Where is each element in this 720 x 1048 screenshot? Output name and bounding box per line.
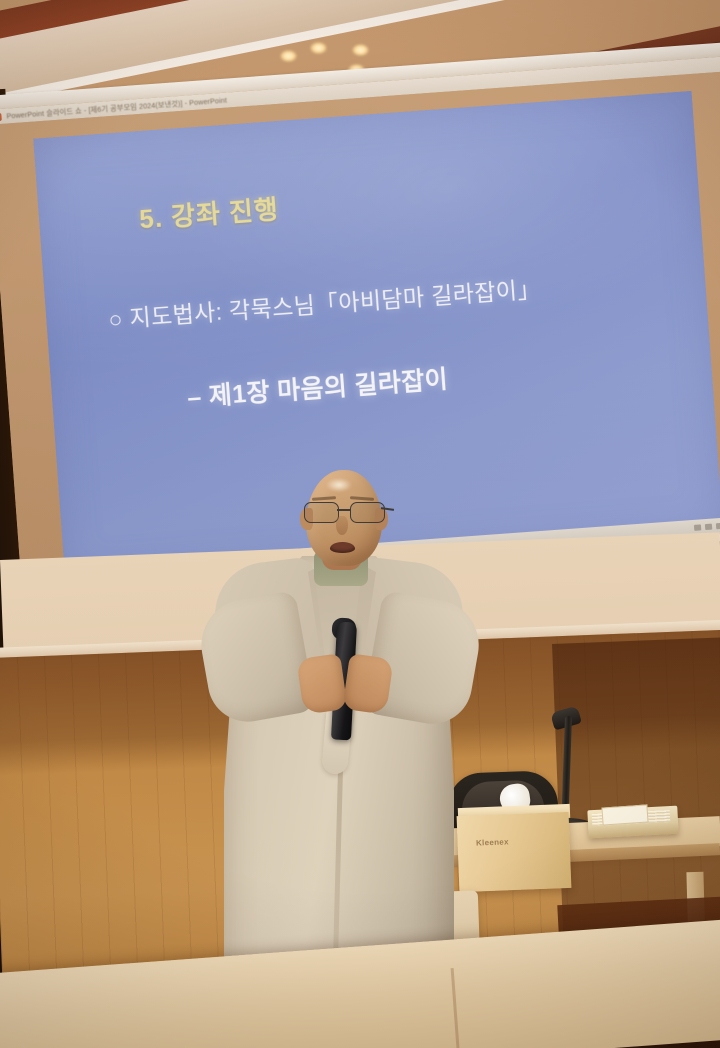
view-controls	[694, 519, 720, 531]
powerpoint-logo-icon	[0, 112, 2, 121]
slide-bullet-2: – 제1장 마음의 길라잡이	[186, 359, 449, 414]
slide-bullet-1: ○ 지도법사: 각묵스님「아비담마 길라잡이」	[107, 269, 542, 334]
eyeglass-lens-right	[350, 502, 385, 523]
view-reading-icon[interactable]	[716, 523, 720, 529]
speaker-monk	[196, 470, 496, 1010]
eyeglass-bridge	[337, 509, 350, 511]
view-normal-icon[interactable]	[694, 524, 701, 530]
monk-nose	[336, 516, 348, 535]
book-paper-slip	[601, 804, 648, 825]
photograph-scene: PowerPoint 슬라이드 쇼 - [제6기 공부모임 2024(보낸것)]…	[0, 0, 720, 1048]
recessed-light-icon	[280, 50, 297, 62]
monk-robe-sleeve-left	[194, 590, 316, 728]
view-sorter-icon[interactable]	[705, 524, 712, 530]
monk-mouth	[330, 542, 355, 553]
recessed-light-icon	[352, 44, 369, 56]
monk-head-highlight	[326, 478, 352, 492]
eyeglass-lens-left	[304, 502, 339, 523]
slide-title: 5. 강좌 진행	[138, 189, 280, 236]
recessed-light-icon	[310, 42, 327, 54]
